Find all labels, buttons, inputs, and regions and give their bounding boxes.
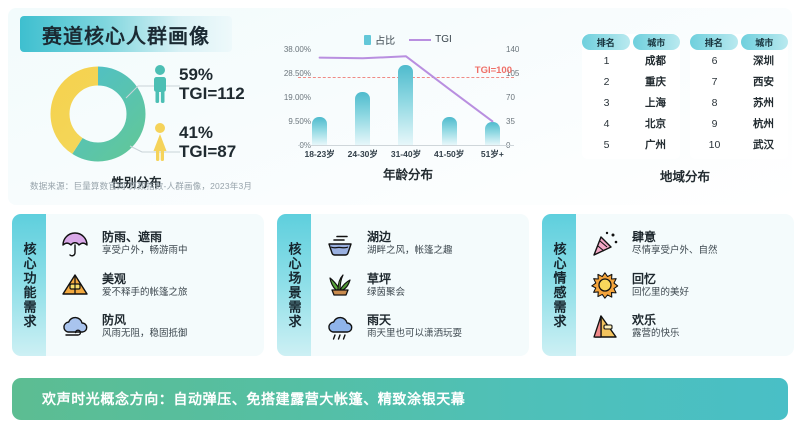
city-rank-table: 排名城市1成都2重庆3上海4北京5广州 — [582, 34, 680, 159]
table-row: 2重庆 — [582, 71, 680, 92]
region-distribution-block: 排名城市1成都2重庆3上海4北京5广州排名城市6深圳7西安8苏州9杭州10武汉 … — [578, 34, 792, 184]
feature-desc: 尽情享受户外、自然 — [632, 245, 718, 258]
chart-x-axis — [298, 145, 514, 146]
feature-title: 防雨、遮雨 — [102, 230, 188, 245]
table-row: 5广州 — [582, 134, 680, 155]
rain-cloud-icon — [323, 310, 357, 344]
feature-card-scenario: 核心场景需求 湖边 湖畔之风，帐篷之趣 — [277, 214, 529, 356]
table-cell-city: 重庆 — [631, 71, 680, 92]
female-tgi: TGI=87 — [179, 142, 236, 161]
feature-desc: 风雨无阻，稳固抵御 — [102, 328, 188, 341]
feature-strip-label: 核心场景需求 — [277, 214, 311, 356]
table-header-row: 排名城市 — [690, 34, 788, 50]
feature-desc: 雨天里也可以潇洒玩耍 — [367, 328, 462, 341]
table-cell-rank: 9 — [690, 113, 739, 134]
feature-title: 草坪 — [367, 272, 405, 287]
age-caption: 年龄分布 — [258, 164, 558, 183]
table-cell-rank: 7 — [690, 71, 739, 92]
umbrella-icon — [58, 227, 92, 261]
gender-row-female: 41% TGI=87 — [150, 116, 245, 168]
feature-item: 回忆 回忆里的美好 — [588, 268, 786, 302]
table-cell-rank: 4 — [582, 113, 631, 134]
feature-items: 湖边 湖畔之风，帐篷之趣 草坪 绿茵聚会 — [311, 214, 529, 356]
table-header-row: 排名城市 — [582, 34, 680, 50]
data-source-note: 数据来源：巨量算数官网-算数指数-人群画像，2023年3月 — [30, 180, 252, 192]
table-row: 6深圳 — [690, 50, 788, 71]
gender-legend-rows: 59% TGI=112 41% — [150, 58, 245, 174]
feature-strip-text: 核心功能需求 — [20, 242, 39, 329]
table-cell-rank: 3 — [582, 92, 631, 113]
page-title-text: 赛道核心人群画像 — [42, 20, 210, 49]
gender-row-male: 59% TGI=112 — [150, 58, 245, 110]
table-cell-city: 杭州 — [739, 113, 788, 134]
feature-item: 草坪 绿茵聚会 — [323, 268, 521, 302]
table-row: 4北京 — [582, 113, 680, 134]
infographic-page: 赛道核心人群画像 — [0, 0, 800, 435]
feature-item: 雨天 雨天里也可以潇洒玩耍 — [323, 310, 521, 344]
table-row: 9杭州 — [690, 113, 788, 134]
feature-desc: 爱不释手的帐篷之旅 — [102, 287, 188, 300]
audience-profile-card: 赛道核心人群画像 — [8, 8, 792, 205]
feature-title: 防风 — [102, 313, 188, 328]
sun-icon — [588, 268, 622, 302]
feature-desc: 享受户外，畅游雨中 — [102, 245, 188, 258]
city-rank-tables: 排名城市1成都2重庆3上海4北京5广州排名城市6深圳7西安8苏州9杭州10武汉 — [578, 34, 792, 159]
table-cell-city: 上海 — [631, 92, 680, 113]
age-distribution-chart: 占比 TGI 0% 9.50% 19.00% 28.50% 38.00% 0 3… — [258, 32, 558, 182]
legend-line-icon — [409, 39, 431, 41]
table-column-header: 排名 — [582, 34, 630, 50]
chart-x-label: 51岁+ — [471, 148, 513, 160]
feature-strip-label: 核心情感需求 — [542, 214, 576, 356]
table-cell-city: 广州 — [631, 134, 680, 155]
lake-icon — [323, 227, 357, 261]
table-cell-city: 西安 — [739, 71, 788, 92]
chart-bar — [355, 92, 370, 145]
table-row: 10武汉 — [690, 134, 788, 155]
table-row: 3上海 — [582, 92, 680, 113]
feature-title: 回忆 — [632, 272, 689, 287]
chart-x-tick-labels: 18-23岁24-30岁31-40岁41-50岁51岁+ — [298, 148, 514, 160]
tent-icon — [58, 268, 92, 302]
feature-items: 肆意 尽情享受户外、自然 回忆 回忆里的美好 — [576, 214, 794, 356]
table-cell-city: 苏州 — [739, 92, 788, 113]
table-cell-rank: 8 — [690, 92, 739, 113]
table-cell-city: 北京 — [631, 113, 680, 134]
female-percent: 41% — [179, 123, 236, 142]
chart-x-label: 24-30岁 — [342, 148, 384, 160]
feature-title: 欢乐 — [632, 313, 680, 328]
legend-label-tgi: TGI — [435, 34, 452, 45]
feature-desc: 回忆里的美好 — [632, 287, 689, 300]
table-cell-rank: 1 — [582, 50, 631, 71]
chart-bars — [298, 50, 514, 145]
table-cell-city: 深圳 — [739, 50, 788, 71]
feature-item: 防雨、遮雨 享受户外，畅游雨中 — [58, 227, 256, 261]
wind-cloud-icon — [58, 310, 92, 344]
feature-card-function: 核心功能需求 防雨、遮雨 享受户外，畅游雨中 — [12, 214, 264, 356]
concept-banner-text: 欢声时光概念方向：自动弹压、免搭建露营大帐篷、精致涂银天幕 — [42, 389, 465, 409]
feature-item: 美观 爱不释手的帐篷之旅 — [58, 268, 256, 302]
table-cell-city: 成都 — [631, 50, 680, 71]
chart-bar — [442, 117, 457, 145]
chart-plot-area: 0% 9.50% 19.00% 28.50% 38.00% 0 35 70 10… — [258, 50, 558, 146]
feature-desc: 绿茵聚会 — [367, 287, 405, 300]
chart-x-label: 31-40岁 — [385, 148, 427, 160]
city-rank-table: 排名城市6深圳7西安8苏州9杭州10武汉 — [690, 34, 788, 159]
concept-banner: 欢声时光概念方向：自动弹压、免搭建露营大帐篷、精致涂银天幕 — [12, 378, 788, 420]
feature-items: 防雨、遮雨 享受户外，畅游雨中 美观 爱不释手的帐篷之旅 — [46, 214, 264, 356]
table-row: 1成都 — [582, 50, 680, 71]
feature-strip-text: 核心情感需求 — [550, 242, 569, 329]
table-cell-rank: 6 — [690, 50, 739, 71]
chart-bar — [485, 122, 500, 145]
chart-bar — [312, 117, 327, 145]
male-percent: 59% — [179, 65, 245, 84]
table-column-header: 排名 — [690, 34, 738, 50]
legend-label-share: 占比 — [375, 32, 395, 47]
legend-item-tgi: TGI — [409, 34, 452, 45]
table-column-header: 城市 — [633, 34, 681, 50]
feature-card-emotion: 核心情感需求 肆意 尽情享受户外、自然 — [542, 214, 794, 356]
table-column-header: 城市 — [741, 34, 789, 50]
gender-distribution-block: 59% TGI=112 41% — [24, 54, 249, 199]
feature-item: 防风 风雨无阻，稳固抵御 — [58, 310, 256, 344]
table-cell-rank: 2 — [582, 71, 631, 92]
party-popper-icon — [588, 227, 622, 261]
table-cell-city: 武汉 — [739, 134, 788, 155]
feature-title: 湖边 — [367, 230, 453, 245]
chart-x-label: 41-50岁 — [428, 148, 470, 160]
camping-tent-icon — [588, 310, 622, 344]
region-caption: 地域分布 — [578, 166, 792, 185]
feature-item: 湖边 湖畔之风，帐篷之趣 — [323, 227, 521, 261]
page-title: 赛道核心人群画像 — [20, 16, 232, 52]
feature-strip-text: 核心场景需求 — [285, 242, 304, 329]
table-row: 8苏州 — [690, 92, 788, 113]
grass-icon — [323, 268, 357, 302]
feature-title: 美观 — [102, 272, 188, 287]
feature-item: 肆意 尽情享受户外、自然 — [588, 227, 786, 261]
feature-desc: 露营的快乐 — [632, 328, 680, 341]
table-cell-rank: 5 — [582, 134, 631, 155]
feature-desc: 湖畔之风，帐篷之趣 — [367, 245, 453, 258]
legend-swatch-icon — [364, 35, 371, 45]
table-row: 7西安 — [690, 71, 788, 92]
legend-item-share: 占比 — [364, 32, 395, 47]
male-tgi: TGI=112 — [179, 84, 245, 103]
feature-item: 欢乐 露营的快乐 — [588, 310, 786, 344]
table-cell-rank: 10 — [690, 134, 739, 155]
feature-strip-label: 核心功能需求 — [12, 214, 46, 356]
feature-title: 肆意 — [632, 230, 718, 245]
male-person-icon — [150, 64, 170, 104]
chart-x-label: 18-23岁 — [299, 148, 341, 160]
chart-bar — [398, 65, 413, 145]
feature-title: 雨天 — [367, 313, 462, 328]
female-person-icon — [150, 122, 170, 162]
